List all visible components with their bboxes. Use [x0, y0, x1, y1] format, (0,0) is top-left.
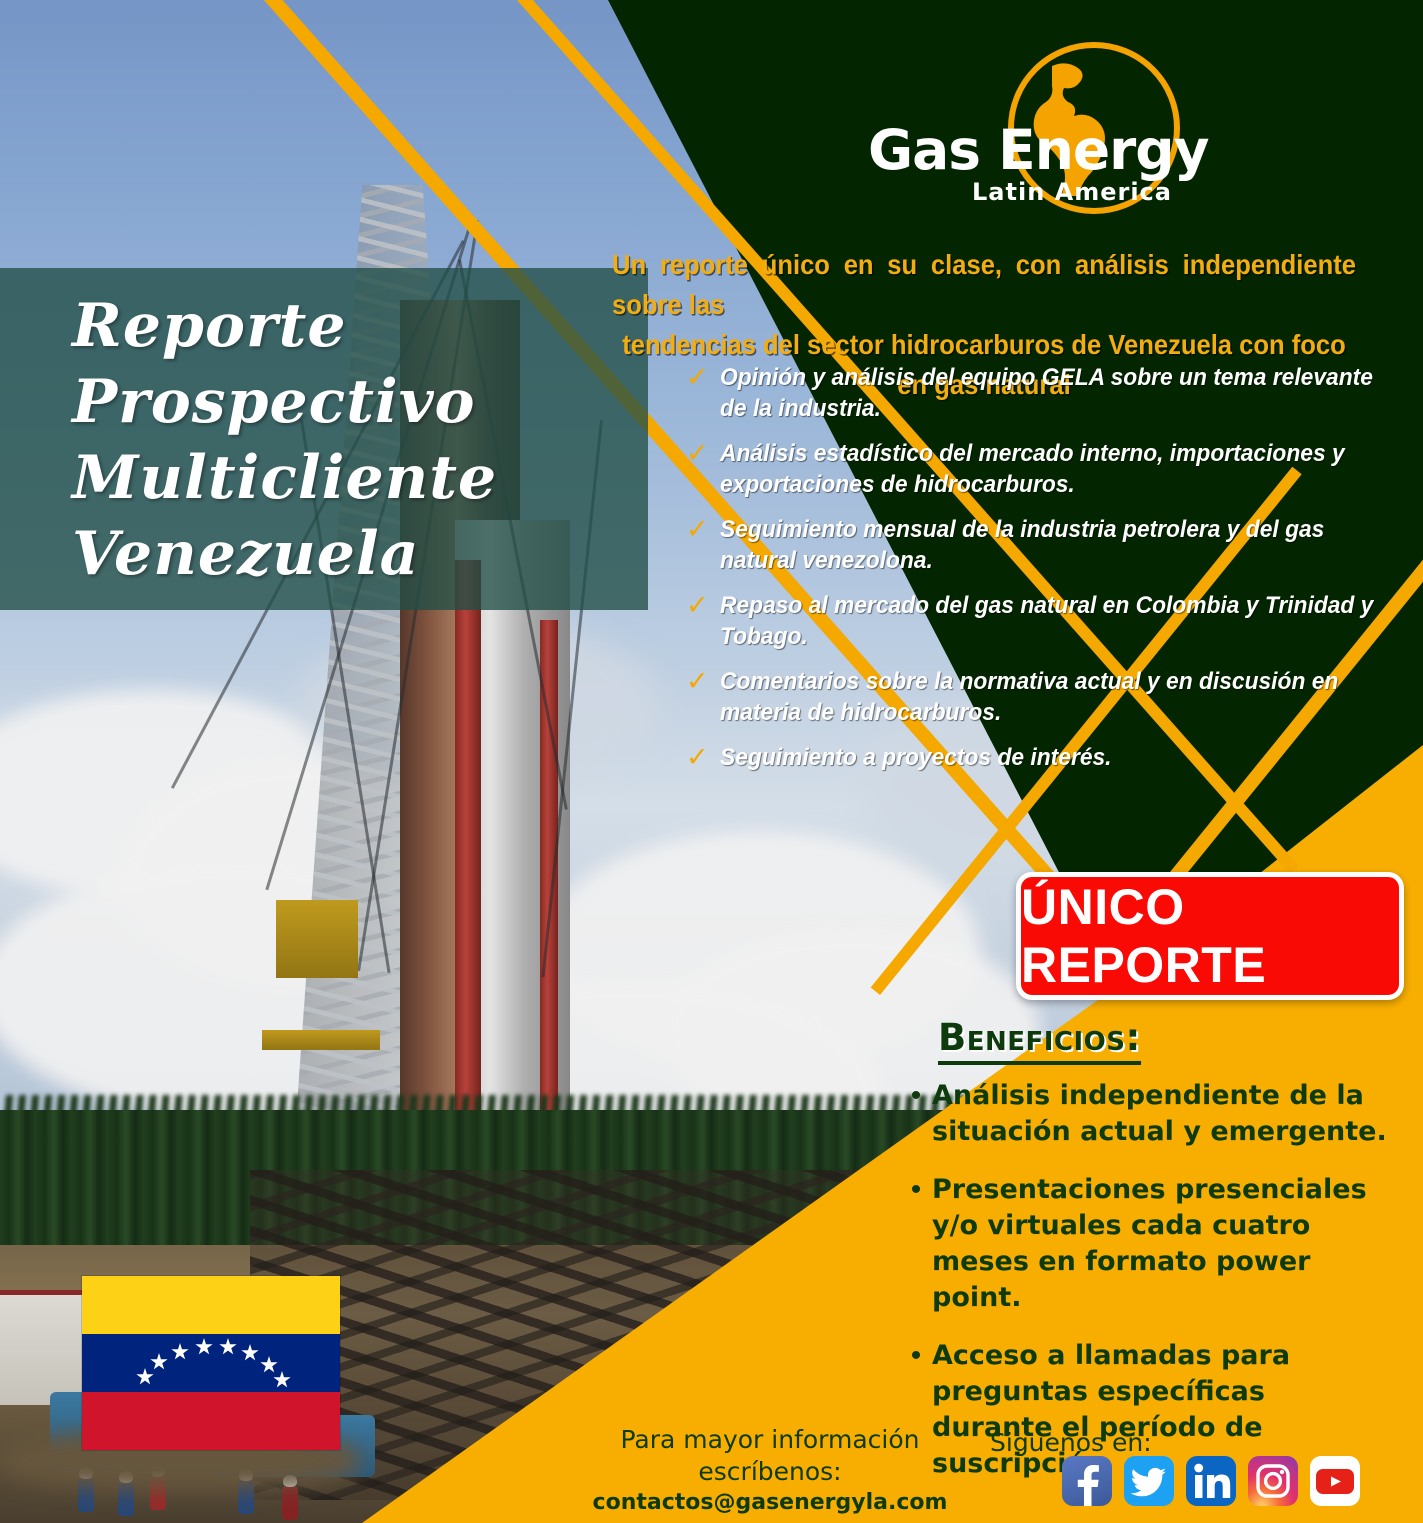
feature-item: ✓ Seguimiento mensual de la industria pe…	[686, 514, 1411, 576]
title-line-3: Multicliente	[72, 440, 632, 516]
benefits-heading: Beneficios:	[938, 1016, 1141, 1065]
check-icon: ✓	[686, 438, 720, 468]
flag-band-red	[82, 1392, 340, 1450]
linkedin-icon[interactable]	[1186, 1456, 1236, 1506]
feature-item: ✓ Seguimiento a proyectos de interés.	[686, 742, 1411, 773]
bullet-icon: •	[900, 1338, 932, 1374]
check-icon: ✓	[686, 666, 720, 696]
feature-item: ✓ Repaso al mercado del gas natural en C…	[686, 590, 1411, 652]
check-icon: ✓	[686, 362, 720, 392]
feature-item: ✓ Análisis estadístico del mercado inter…	[686, 438, 1411, 500]
contact-email[interactable]: contactos@gasenergyla.com	[560, 1488, 980, 1518]
feature-item-label: Opinión y análisis del equipo GELA sobre…	[720, 362, 1376, 424]
benefit-item: • Análisis independiente de la situación…	[900, 1078, 1400, 1150]
contact-block: Para mayor información escríbenos: conta…	[560, 1424, 980, 1523]
logo-wordmark: Gas Energy	[868, 118, 1168, 182]
title-line-4: Venezuela	[72, 516, 632, 592]
poster-root: Reporte Prospectivo Multicliente Venezue…	[0, 0, 1423, 1523]
logo-tagline: Latin America	[972, 178, 1202, 206]
feature-item-label: Análisis estadístico del mercado interno…	[720, 438, 1376, 500]
benefit-item-label: Presentaciones presenciales y/o virtuale…	[932, 1172, 1387, 1316]
contact-label: Para mayor información escríbenos:	[560, 1424, 980, 1488]
title-line-2: Prospectivo	[72, 364, 632, 440]
title-line-1: Reporte	[72, 288, 632, 364]
feature-item-label: Comentarios sobre la normativa actual y …	[720, 666, 1376, 728]
follow-label: Siguenos en:	[990, 1428, 1152, 1457]
venezuela-flag-icon	[82, 1276, 340, 1450]
benefit-item: • Presentaciones presenciales y/o virtua…	[900, 1172, 1400, 1316]
feature-item: ✓ Opinión y análisis del equipo GELA sob…	[686, 362, 1411, 424]
instagram-icon[interactable]	[1248, 1456, 1298, 1506]
feature-item: ✓ Comentarios sobre la normativa actual …	[686, 666, 1411, 728]
logo-gas-energy: Gas Energy Latin America	[868, 36, 1168, 211]
headline-line-1: Un reporte único en su clase, con anális…	[612, 245, 1356, 325]
bullet-icon: •	[900, 1078, 932, 1114]
benefit-item-label: Análisis independiente de la situación a…	[932, 1078, 1387, 1150]
flag-band-blue	[82, 1334, 340, 1392]
check-icon: ✓	[686, 590, 720, 620]
page-title: Reporte Prospectivo Multicliente Venezue…	[72, 288, 632, 592]
feature-item-label: Seguimiento mensual de la industria petr…	[720, 514, 1376, 576]
unico-reporte-badge[interactable]: ÚNICO REPORTE	[1016, 872, 1404, 1000]
twitter-icon[interactable]	[1124, 1456, 1174, 1506]
feature-item-label: Repaso al mercado del gas natural en Col…	[720, 590, 1376, 652]
check-icon: ✓	[686, 514, 720, 544]
unico-reporte-badge-label: ÚNICO REPORTE	[1021, 878, 1399, 994]
social-links	[1062, 1456, 1360, 1506]
bullet-icon: •	[900, 1172, 932, 1208]
flag-band-yellow	[82, 1276, 340, 1334]
youtube-icon[interactable]	[1310, 1456, 1360, 1506]
facebook-icon[interactable]	[1062, 1456, 1112, 1506]
feature-list: ✓ Opinión y análisis del equipo GELA sob…	[686, 362, 1411, 787]
feature-item-label: Seguimiento a proyectos de interés.	[720, 742, 1376, 773]
contact-website[interactable]: www.gasenergyla.com	[560, 1518, 980, 1523]
check-icon: ✓	[686, 742, 720, 772]
